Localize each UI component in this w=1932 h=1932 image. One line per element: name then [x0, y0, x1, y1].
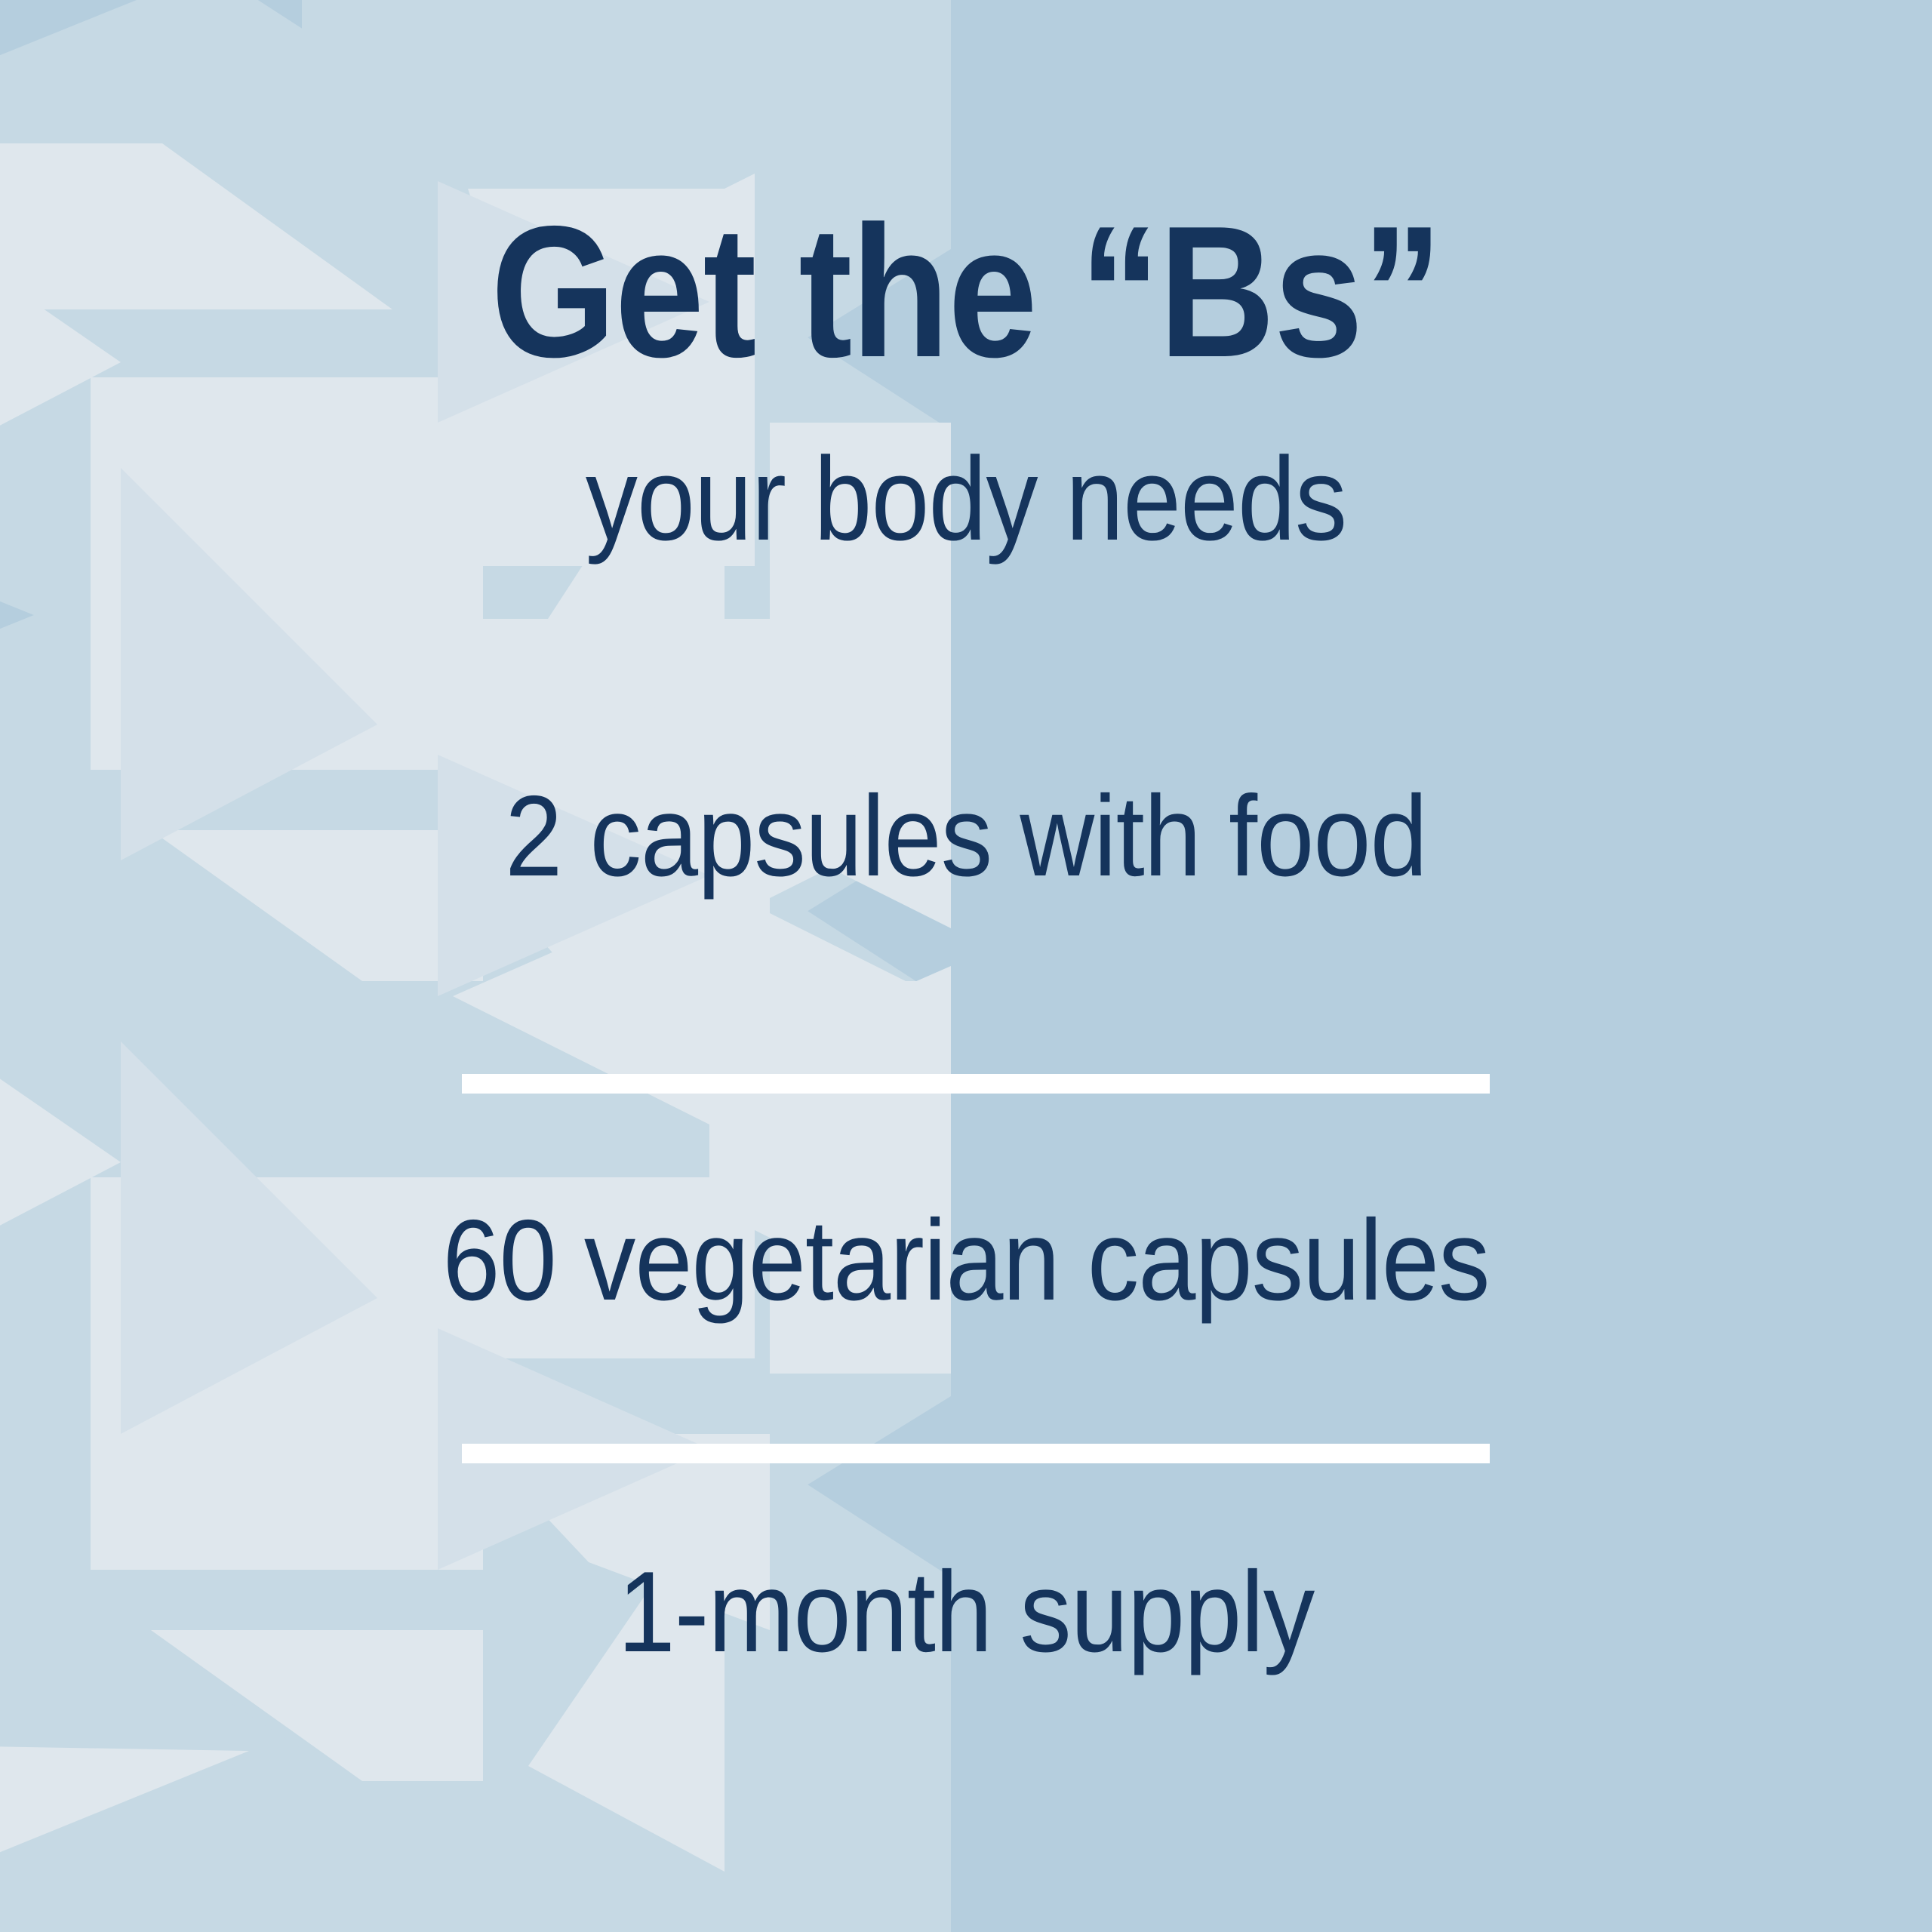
product-info-graphic: Get the “Bs” your body needs 2 capsules … [0, 0, 1932, 1932]
fact-dosage: 2 capsules with food [97, 779, 1835, 894]
fact-capsule-count: 60 vegetarian capsules [97, 1203, 1835, 1318]
divider-above-capsule-count [462, 1074, 1490, 1094]
fact-supply-duration: 1-month supply [97, 1555, 1835, 1669]
page-subtitle: your body needs [116, 440, 1817, 558]
divider-below-capsule-count [462, 1444, 1490, 1463]
page-title: Get the “Bs” [135, 198, 1797, 385]
